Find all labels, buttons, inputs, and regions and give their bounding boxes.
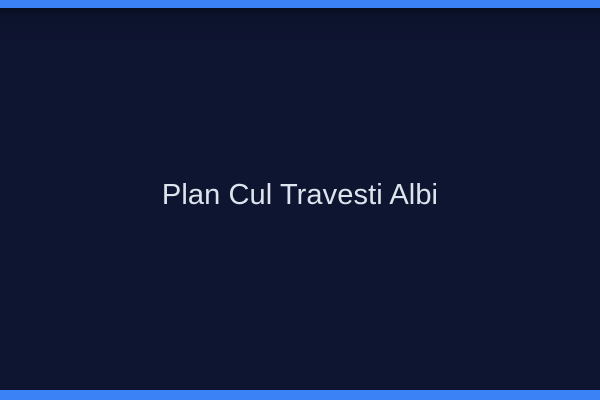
placeholder-banner: Plan Cul Travesti Albi [0, 0, 600, 400]
bottom-accent-bar [0, 390, 600, 400]
banner-caption: Plan Cul Travesti Albi [146, 179, 454, 212]
banner-stage: Plan Cul Travesti Albi [0, 8, 600, 390]
top-accent-bar [0, 0, 600, 8]
